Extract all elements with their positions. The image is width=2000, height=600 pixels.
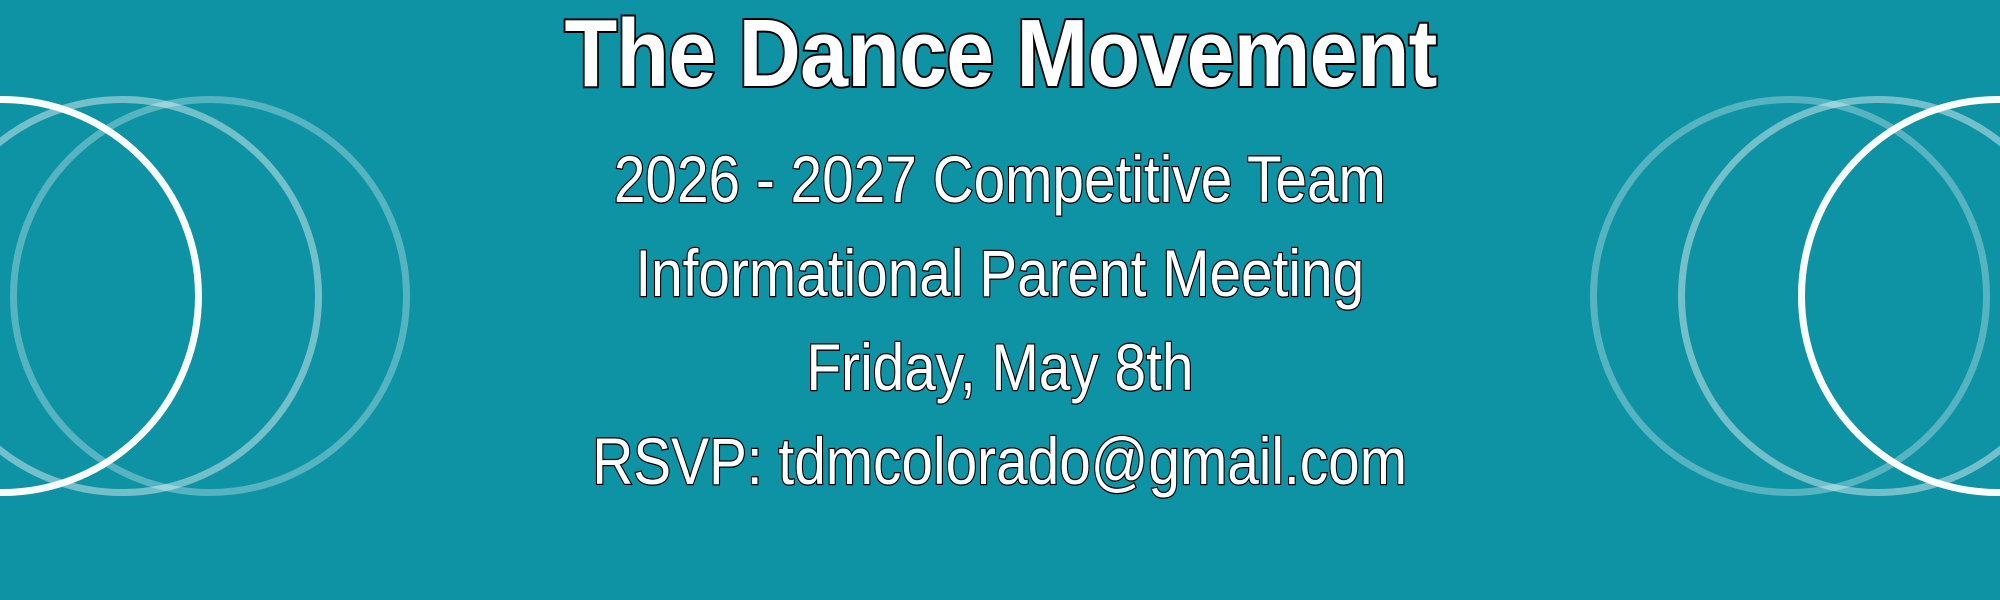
banner-title: The Dance Movement	[564, 6, 1436, 102]
banner-subtitle-season: 2026 - 2027 Competitive Team	[614, 146, 1386, 212]
event-banner: The Dance Movement 2026 - 2027 Competiti…	[0, 0, 2000, 600]
banner-subtitle-meeting: Informational Parent Meeting	[636, 240, 1365, 306]
banner-rsvp-email: RSVP: tdmcolorado@gmail.com	[593, 428, 1408, 494]
banner-text-block: The Dance Movement 2026 - 2027 Competiti…	[0, 0, 2000, 600]
banner-event-date: Friday, May 8th	[807, 334, 1194, 400]
